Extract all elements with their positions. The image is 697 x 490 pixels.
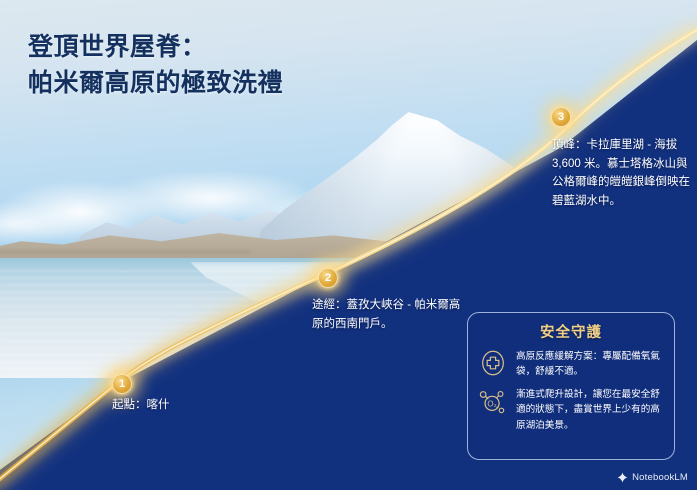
- safety-item: 高原反應緩解方案：專屬配備氧氣袋，舒緩不適。: [478, 349, 664, 379]
- page-title: 登頂世界屋脊： 帕米爾高原的極致洗禮: [28, 30, 358, 101]
- step-caption-1: 起點：喀什: [112, 396, 262, 415]
- step-marker-2[interactable]: 2: [318, 268, 338, 288]
- safety-item: O₂ 漸進式爬升設計，讓您在最安全舒適的狀態下，盡賞世界上少有的高原湖泊美景。: [478, 387, 664, 432]
- step-marker-1[interactable]: 1: [112, 374, 132, 394]
- notebooklm-branding: NotebookLM: [617, 472, 688, 483]
- step-caption-3: 頂峰：卡拉庫里湖 - 海拔 3,600 米。慕士塔格冰山與公格爾峰的皚皚銀峰倒映…: [552, 136, 692, 211]
- safety-item-text: 高原反應緩解方案：專屬配備氧氣袋，舒緩不適。: [516, 349, 664, 379]
- oxygen-molecule-icon: O₂: [478, 386, 508, 416]
- title-line-2: 帕米爾高原的極致洗禮: [28, 66, 358, 102]
- safety-card-title: 安全守護: [478, 321, 664, 342]
- notebooklm-label: NotebookLM: [632, 472, 688, 483]
- poster-canvas: 登頂世界屋脊： 帕米爾高原的極致洗禮 1 2 3 起點：喀什 途經：蓋孜大峽谷 …: [0, 0, 697, 490]
- safety-item-text: 漸進式爬升設計，讓您在最安全舒適的狀態下，盡賞世界上少有的高原湖泊美景。: [516, 387, 664, 432]
- step-caption-2: 途經：蓋孜大峽谷 - 帕米爾高原的西南門戶。: [312, 296, 462, 333]
- notebooklm-logo-icon: [617, 472, 628, 483]
- safety-card: 安全守護 高原反應緩解方案：專屬配備氧氣袋，舒緩不適。 O₂ 漸進式爬升設計，讓…: [467, 312, 675, 460]
- step-marker-3[interactable]: 3: [551, 107, 571, 127]
- svg-text:O₂: O₂: [487, 400, 496, 409]
- title-line-1: 登頂世界屋脊：: [28, 30, 358, 66]
- medical-cross-icon: [478, 348, 508, 378]
